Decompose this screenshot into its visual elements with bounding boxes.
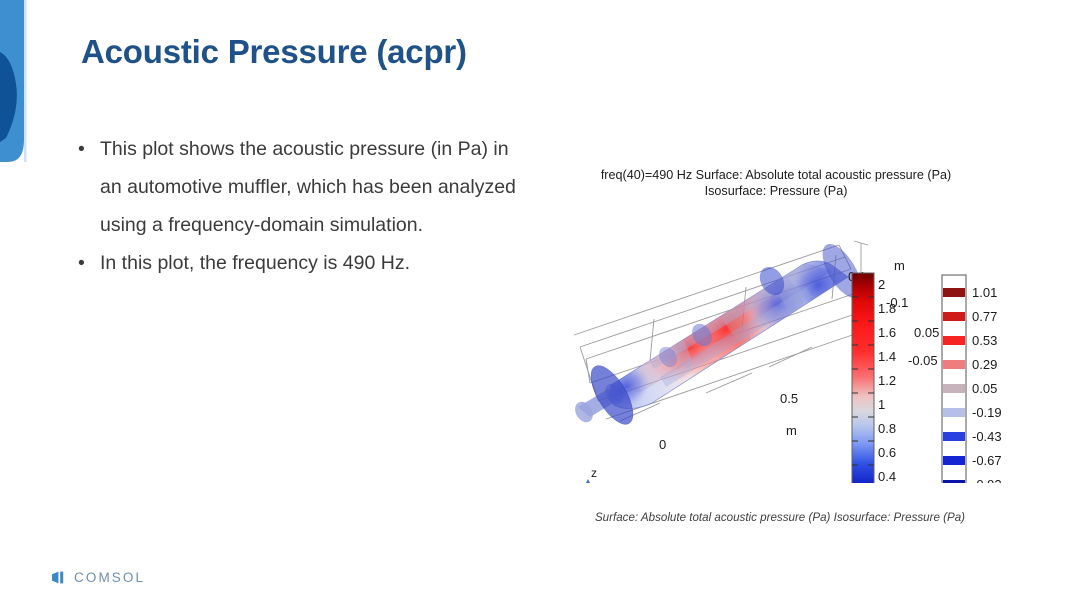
bullet-marker-icon: • bbox=[78, 244, 100, 282]
svg-text:0.8: 0.8 bbox=[878, 421, 896, 436]
slide-canvas: Acoustic Pressure (acpr) • This plot sho… bbox=[0, 0, 1080, 606]
bullet-text: In this plot, the frequency is 490 Hz. bbox=[100, 244, 518, 282]
bullet-text: This plot shows the acoustic pressure (i… bbox=[100, 130, 518, 244]
svg-text:0.53: 0.53 bbox=[972, 333, 997, 348]
svg-text:1.4: 1.4 bbox=[878, 349, 896, 364]
svg-text:1.01: 1.01 bbox=[972, 285, 997, 300]
list-item: • In this plot, the frequency is 490 Hz. bbox=[78, 244, 518, 282]
page-title: Acoustic Pressure (acpr) bbox=[81, 33, 467, 71]
list-item: • This plot shows the acoustic pressure … bbox=[78, 130, 518, 244]
depth-unit-m: m bbox=[894, 258, 905, 273]
x-axis-unit: m bbox=[786, 423, 797, 438]
svg-text:0.29: 0.29 bbox=[972, 357, 997, 372]
isosurface-colorbar: 1.01 0.77 0.53 0.29 0.05 -0.19 -0.43 -0.… bbox=[942, 275, 1002, 483]
x-tick-05: 0.5 bbox=[780, 391, 798, 406]
svg-text:1.8: 1.8 bbox=[878, 301, 896, 316]
plot-title-line-1: freq(40)=490 Hz Surface: Absolute total … bbox=[601, 168, 951, 182]
body-text-block: • This plot shows the acoustic pressure … bbox=[78, 130, 518, 282]
decorative-ribbon bbox=[0, 0, 30, 162]
comsol-plot: freq(40)=490 Hz Surface: Absolute total … bbox=[556, 163, 1026, 483]
plot-title-line-2: Isosurface: Pressure (Pa) bbox=[556, 183, 996, 199]
svg-text:0.6: 0.6 bbox=[878, 445, 896, 460]
svg-text:-0.43: -0.43 bbox=[972, 429, 1002, 444]
bullet-marker-icon: • bbox=[78, 130, 100, 168]
svg-text:-0.67: -0.67 bbox=[972, 453, 1002, 468]
svg-text:0.05: 0.05 bbox=[972, 381, 997, 396]
svg-text:-0.19: -0.19 bbox=[972, 405, 1002, 420]
svg-text:1.2: 1.2 bbox=[878, 373, 896, 388]
svg-text:1: 1 bbox=[878, 397, 885, 412]
svg-text:2: 2 bbox=[878, 277, 885, 292]
svg-text:z: z bbox=[591, 466, 597, 480]
surface-colorbar: 2 1.8 1.6 1.4 1.2 1 0.8 0.6 0.4 0.2 bbox=[852, 273, 896, 483]
depth-tick-005: 0.05 bbox=[914, 325, 939, 340]
comsol-logo: COMSOL bbox=[52, 570, 145, 585]
plot-canvas: 0 0.5 m m 0.1 -0.1 0.05 -0.05 1 z bbox=[556, 207, 1026, 483]
depth-tick-neg005: -0.05 bbox=[908, 353, 938, 368]
svg-text:-0.92: -0.92 bbox=[972, 477, 1002, 483]
plot-caption: Surface: Absolute total acoustic pressur… bbox=[560, 511, 1000, 524]
comsol-logo-mark bbox=[52, 571, 69, 584]
isosurface-colorbar-ticks: 1.01 0.77 0.53 0.29 0.05 -0.19 -0.43 -0.… bbox=[972, 285, 1002, 483]
surface-colorbar-ticks: 2 1.8 1.6 1.4 1.2 1 0.8 0.6 0.4 0.2 bbox=[878, 277, 896, 483]
plot-title: freq(40)=490 Hz Surface: Absolute total … bbox=[556, 167, 996, 199]
svg-text:0.4: 0.4 bbox=[878, 469, 896, 483]
comsol-wordmark: COMSOL bbox=[74, 570, 145, 585]
axis-triad: z x y bbox=[558, 466, 618, 483]
svg-text:0.77: 0.77 bbox=[972, 309, 997, 324]
svg-text:1.6: 1.6 bbox=[878, 325, 896, 340]
x-tick-0: 0 bbox=[659, 437, 666, 452]
